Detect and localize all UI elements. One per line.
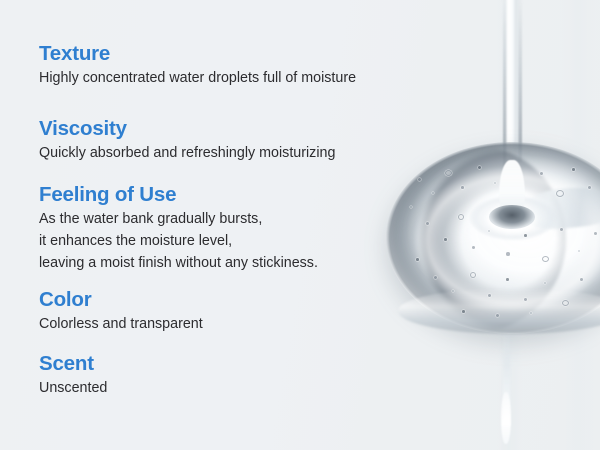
air-bubble (540, 172, 543, 175)
feature-description-texture: Highly concentrated water droplets full … (39, 68, 389, 90)
splash-crown (470, 196, 556, 240)
air-bubble (506, 252, 510, 256)
gel-disc-shadow-arc (386, 146, 566, 332)
air-bubble (452, 290, 454, 292)
air-bubble (458, 214, 464, 220)
air-bubble (410, 206, 412, 208)
air-bubble (478, 166, 481, 169)
clear-gel-disc (386, 142, 600, 334)
feature-description-color: Colorless and transparent (39, 314, 389, 336)
air-bubble (445, 170, 452, 176)
falling-water-stream (505, 0, 520, 169)
feature-item-color: Color Colorless and transparent (39, 288, 389, 336)
air-bubble (530, 312, 532, 314)
air-bubble (556, 190, 564, 197)
product-feature-panel: Texture Highly concentrated water drople… (0, 0, 600, 450)
air-bubble (560, 228, 563, 231)
air-bubble (578, 250, 580, 252)
feature-title-color: Color (39, 288, 389, 312)
drip-bead (501, 392, 511, 444)
splash-neck (499, 160, 525, 218)
air-bubble (562, 300, 569, 306)
feature-item-texture: Texture Highly concentrated water drople… (39, 42, 389, 90)
backdrop-seam (497, 0, 523, 450)
air-bubble (594, 232, 597, 235)
air-bubble (418, 178, 421, 181)
feature-item-viscosity: Viscosity Quickly absorbed and refreshin… (39, 117, 389, 165)
air-bubble (542, 256, 549, 262)
air-bubble (470, 272, 476, 278)
gel-disc-lower-lip (398, 288, 600, 334)
air-bubble (488, 294, 491, 297)
air-bubble (496, 314, 499, 317)
feature-description-feeling-of-use: As the water bank gradually bursts, it e… (39, 209, 389, 274)
air-bubble (472, 246, 475, 249)
air-bubble (544, 282, 546, 284)
air-bubble (506, 278, 509, 281)
air-bubble (444, 238, 447, 241)
water-stream-edge (503, 0, 507, 166)
splash-impact-ring (489, 205, 535, 229)
air-bubble (524, 234, 527, 237)
feature-item-feeling-of-use: Feeling of Use As the water bank gradual… (39, 183, 389, 274)
feature-title-texture: Texture (39, 42, 389, 66)
feature-title-viscosity: Viscosity (39, 117, 389, 141)
air-bubble (488, 230, 490, 232)
feature-item-scent: Scent Unscented (39, 352, 389, 400)
feature-description-scent: Unscented (39, 378, 389, 400)
feature-list: Texture Highly concentrated water drople… (39, 0, 389, 450)
air-bubble (462, 310, 465, 313)
air-bubble (426, 222, 429, 225)
air-bubble (416, 258, 419, 261)
feature-title-scent: Scent (39, 352, 389, 376)
air-bubble (524, 298, 527, 301)
air-bubble (432, 192, 434, 194)
air-bubble (461, 186, 464, 189)
feature-title-feeling-of-use: Feeling of Use (39, 183, 389, 207)
drip-trail (503, 330, 510, 426)
feature-description-viscosity: Quickly absorbed and refreshingly moistu… (39, 143, 389, 165)
air-bubble (434, 276, 437, 279)
air-bubble (588, 186, 591, 189)
air-bubble (572, 168, 575, 171)
air-bubble (580, 278, 583, 281)
air-bubble (494, 182, 496, 184)
water-stream-edge (518, 0, 522, 162)
backdrop-seam (560, 0, 600, 450)
gel-disc-highlight-crescent (392, 150, 600, 330)
splash-wing (518, 183, 600, 233)
